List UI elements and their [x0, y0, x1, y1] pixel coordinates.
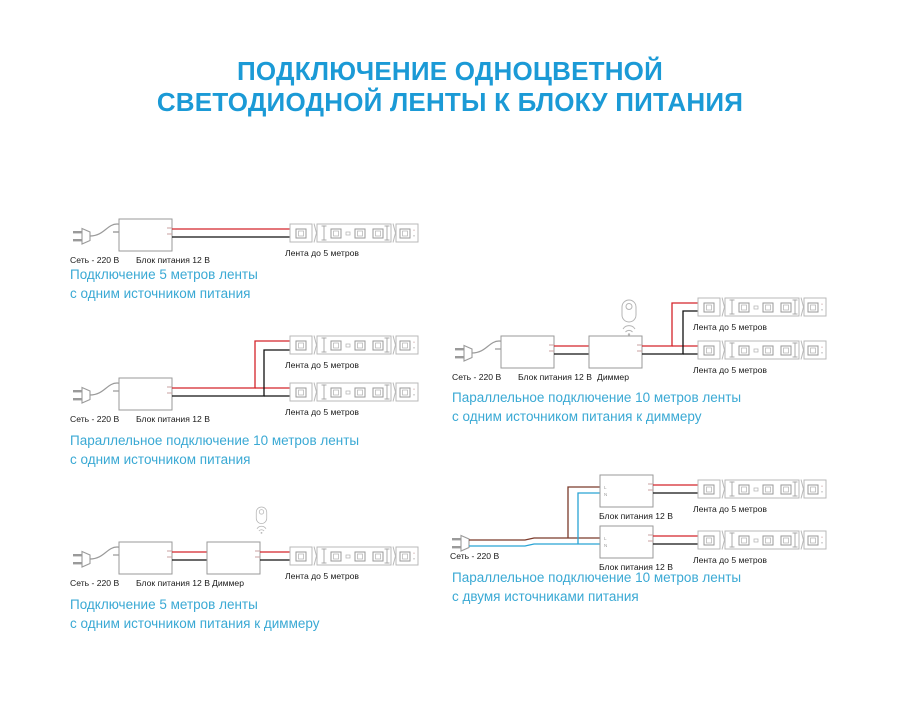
caption-line-2: с одним источником питания к диммеру [70, 614, 319, 633]
wire-neutral [469, 544, 600, 546]
led-strip [290, 383, 418, 402]
caption-single-5m-dimmer: Подключение 5 метров ленты с одним источ… [70, 595, 319, 633]
label-strip: Лента до 5 метров [693, 322, 767, 333]
remote-control-icon [622, 300, 636, 336]
wire-line [469, 538, 600, 540]
label-strip: Лента до 5 метров [693, 365, 767, 376]
label-psu: Блок питания 12 В [136, 414, 210, 425]
label-psu: Блок питания 12 В [136, 578, 210, 589]
poster-canvas: ПОДКЛЮЧЕНИЕ ОДНОЦВЕТНОЙ СВЕТОДИОДНОЙ ЛЕН… [0, 0, 900, 720]
svg-text:N: N [604, 543, 607, 548]
psu-box [600, 526, 653, 558]
psu-box [600, 475, 653, 507]
diagram-single-5m [73, 219, 418, 251]
psu-box [501, 336, 554, 368]
label-strip: Лента до 5 метров [693, 504, 767, 515]
caption-single-5m: Подключение 5 метров ленты с одним источ… [70, 265, 258, 303]
led-strip [698, 298, 826, 317]
caption-line-1: Параллельное подключение 10 метров ленты [452, 388, 741, 407]
label-strip: Лента до 5 метров [693, 555, 767, 566]
led-strip [698, 341, 826, 360]
label-psu: Блок питания 12 В [518, 372, 592, 383]
caption-line-2: с одним источником питания к диммеру [452, 407, 741, 426]
label-dimmer: Диммер [597, 372, 629, 383]
psu-box [119, 378, 172, 410]
caption-line-1: Параллельное подключение 10 метров ленты [452, 568, 741, 587]
label-mains: Сеть - 220 В [70, 414, 119, 425]
power-plug-icon [73, 229, 90, 245]
label-strip: Лента до 5 метров [285, 407, 359, 418]
diagram-parallel-10m-dimmer [455, 298, 826, 369]
svg-text:N: N [604, 492, 607, 497]
wire-positive [642, 303, 700, 346]
led-strip [698, 480, 826, 499]
psu-box [119, 219, 172, 251]
power-plug-icon [455, 346, 472, 362]
caption-line-2: с одним источником питания [70, 450, 359, 469]
caption-parallel-10m-one-psu: Параллельное подключение 10 метров ленты… [70, 431, 359, 469]
caption-parallel-10m-dimmer: Параллельное подключение 10 метров ленты… [452, 388, 741, 426]
caption-line-1: Параллельное подключение 10 метров ленты [70, 431, 359, 450]
dimmer-box [589, 336, 642, 368]
caption-parallel-10m-two-psu: Параллельное подключение 10 метров ленты… [452, 568, 741, 606]
psu-box [119, 542, 172, 574]
wire-positive [172, 341, 292, 388]
label-dimmer: Диммер [212, 578, 244, 589]
caption-line-1: Подключение 5 метров ленты [70, 595, 319, 614]
wire-negative [172, 350, 292, 396]
diagram-single-5m-dimmer [73, 507, 418, 574]
caption-line-1: Подключение 5 метров ленты [70, 265, 258, 284]
label-mains: Сеть - 220 В [70, 578, 119, 589]
led-strip [698, 531, 826, 550]
label-mains: Сеть - 220 В [452, 372, 501, 383]
power-plug-icon [73, 552, 90, 568]
caption-line-2: с двумя источниками питания [452, 587, 741, 606]
label-strip: Лента до 5 метров [285, 571, 359, 582]
label-strip: Лента до 5 метров [285, 248, 359, 259]
wire-negative [642, 311, 700, 354]
power-plug-icon [73, 388, 90, 404]
label-strip: Лента до 5 метров [285, 360, 359, 371]
power-plug-icon [452, 536, 469, 552]
led-strip [290, 336, 418, 355]
diagram-parallel-10m-one-psu [73, 336, 418, 411]
label-psu: Блок питания 12 В [599, 511, 673, 522]
led-strip [290, 547, 418, 566]
label-mains: Сеть - 220 В [450, 551, 499, 562]
led-strip [290, 224, 418, 243]
dimmer-box [207, 542, 260, 574]
caption-line-2: с одним источником питания [70, 284, 258, 303]
remote-control-icon [256, 507, 267, 534]
